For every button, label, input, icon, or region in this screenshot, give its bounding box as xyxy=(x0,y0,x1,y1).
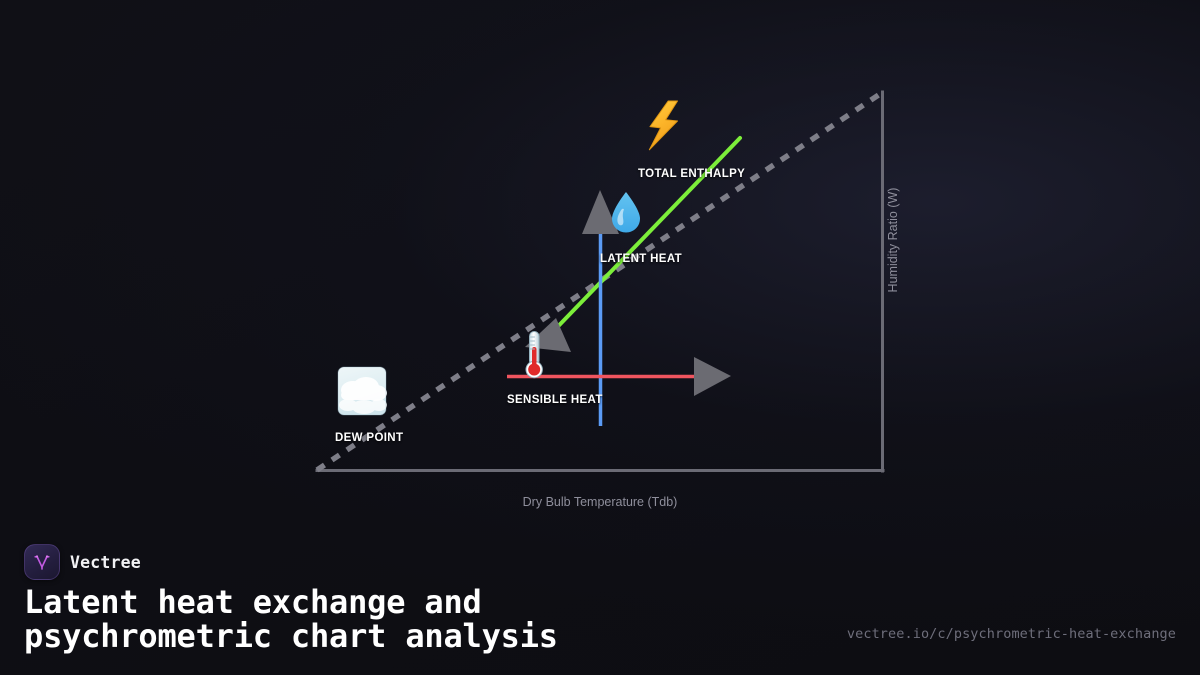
vectree-glyph-icon xyxy=(32,552,52,572)
latent-heat-arrowhead xyxy=(582,190,619,234)
site-url: vectree.io/c/psychrometric-heat-exchange xyxy=(847,626,1176,642)
droplet-icon xyxy=(612,192,640,233)
y-axis-title: Humidity Ratio (W) xyxy=(886,188,900,293)
page-root: TOTAL ENTHALPY LATENT HEAT SENSIBLE HEAT… xyxy=(0,0,1200,675)
dew-point-label: DEW POINT xyxy=(335,432,403,444)
fog-cloud-icon xyxy=(338,367,387,415)
y-axis-title-container: Humidity Ratio (W) xyxy=(885,170,901,310)
page-title: Latent heat exchange and psychrometric c… xyxy=(24,585,844,653)
footer-banner: Vectree Latent heat exchange and psychro… xyxy=(0,530,1200,675)
total-enthalpy-label: TOTAL ENTHALPY xyxy=(638,168,745,180)
x-axis-title: Dry Bulb Temperature (Tdb) xyxy=(0,495,1200,509)
brand-name: Vectree xyxy=(70,553,141,572)
vectree-logo-icon xyxy=(24,544,60,580)
sensible-heat-label: SENSIBLE HEAT xyxy=(507,394,603,406)
latent-heat-label: LATENT HEAT xyxy=(600,253,682,265)
brand-row[interactable]: Vectree xyxy=(24,544,141,580)
psychrometric-chart: TOTAL ENTHALPY LATENT HEAT SENSIBLE HEAT… xyxy=(0,0,1200,530)
high-voltage-icon xyxy=(649,101,677,150)
chart-canvas xyxy=(0,0,1200,530)
sensible-heat-arrowhead xyxy=(694,357,731,396)
